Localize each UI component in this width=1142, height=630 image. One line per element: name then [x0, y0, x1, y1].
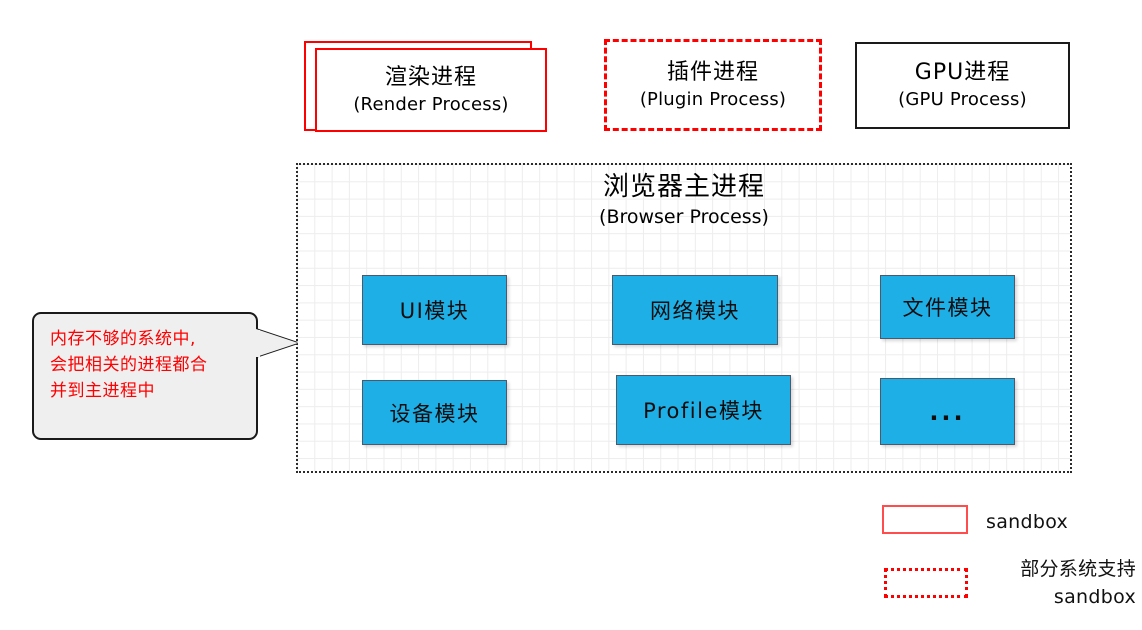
callout-pointer-base — [250, 330, 260, 357]
legend-label-sandbox: sandbox — [986, 508, 1136, 536]
render-process-subtitle: (Render Process) — [353, 96, 508, 114]
module-network-label: 网络模块 — [650, 295, 740, 325]
legend-swatch-sandbox-icon — [882, 505, 968, 534]
module-profile[interactable]: Profile模块 — [616, 375, 791, 445]
module-more-label: ... — [929, 398, 965, 426]
module-file[interactable]: 文件模块 — [880, 275, 1015, 339]
legend-swatch-partial-sandbox-icon — [884, 568, 968, 598]
browser-process-container[interactable]: 浏览器主进程 (Browser Process) UI模块 网络模块 文件模块 … — [296, 163, 1072, 473]
callout-line-1: 内存不够的系统中, — [50, 326, 242, 352]
module-file-label: 文件模块 — [903, 292, 993, 322]
legend-label-partial-sandbox-line1: 部分系统支持 — [1020, 558, 1136, 580]
plugin-process-title: 插件进程 — [667, 62, 759, 84]
gpu-process-box[interactable]: GPU进程 (GPU Process) — [855, 42, 1070, 129]
callout-box: 内存不够的系统中, 会把相关的进程都合 并到主进程中 — [32, 312, 258, 440]
diagram-canvas: 渲染进程 (Render Process) 插件进程 (Plugin Proce… — [0, 0, 1142, 630]
browser-process-heading: 浏览器主进程 (Browser Process) — [298, 174, 1070, 227]
legend-label-partial-sandbox-line2: sandbox — [960, 583, 1136, 611]
callout-line-3: 并到主进程中 — [50, 378, 242, 404]
legend-label-partial-sandbox: 部分系统支持 sandbox — [960, 555, 1136, 611]
browser-process-subtitle: (Browser Process) — [298, 208, 1070, 227]
render-process-box[interactable]: 渲染进程 (Render Process) — [315, 48, 547, 132]
module-ui-label: UI模块 — [400, 295, 470, 325]
module-network[interactable]: 网络模块 — [612, 275, 778, 345]
callout-line-2: 会把相关的进程都合 — [50, 352, 242, 378]
plugin-process-box[interactable]: 插件进程 (Plugin Process) — [604, 39, 822, 131]
browser-process-title: 浏览器主进程 — [298, 174, 1070, 200]
module-device-label: 设备模块 — [390, 398, 480, 428]
module-ui[interactable]: UI模块 — [362, 275, 507, 345]
plugin-process-subtitle: (Plugin Process) — [640, 91, 786, 109]
module-device[interactable]: 设备模块 — [362, 380, 507, 445]
module-profile-label: Profile模块 — [643, 395, 764, 425]
callout-pointer-icon — [256, 329, 298, 357]
render-process-title: 渲染进程 — [385, 67, 477, 89]
module-more[interactable]: ... — [880, 378, 1015, 445]
gpu-process-subtitle: (GPU Process) — [898, 91, 1027, 109]
gpu-process-title: GPU进程 — [915, 62, 1010, 84]
